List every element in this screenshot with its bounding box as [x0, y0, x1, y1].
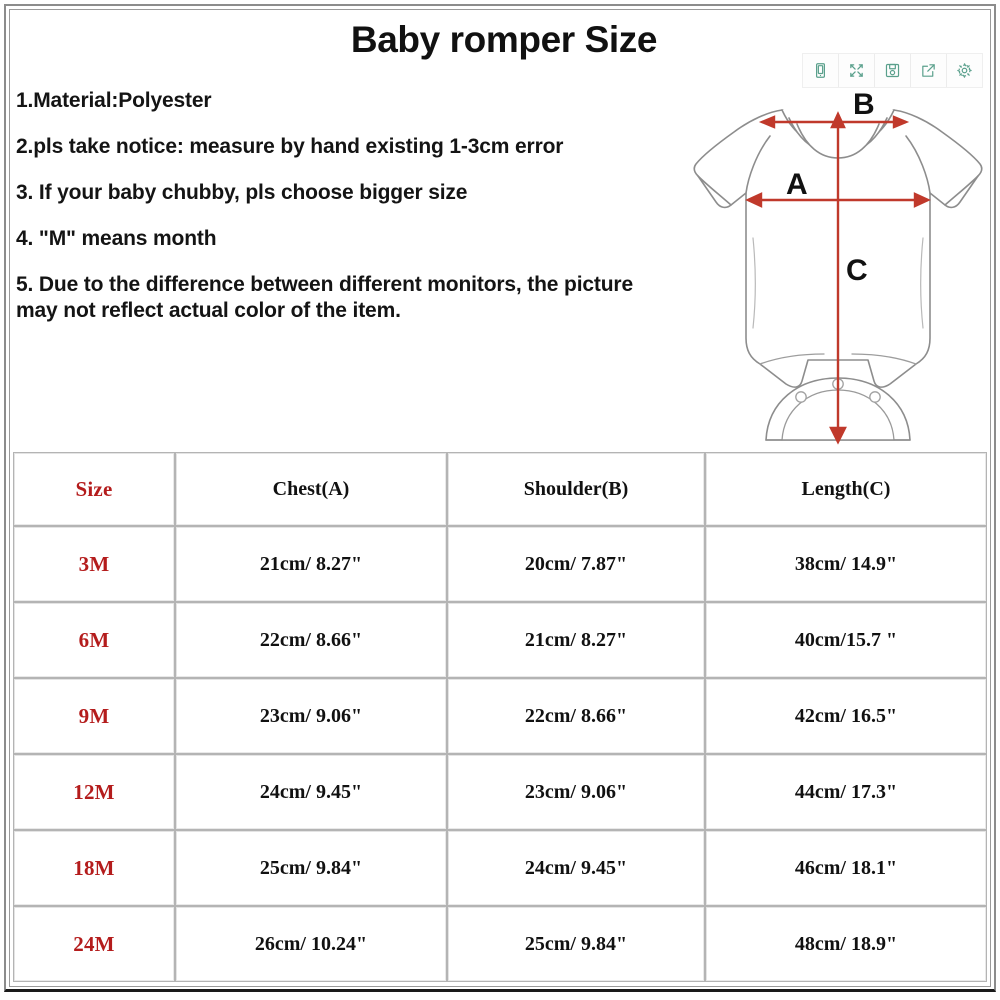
notes-list: 1.Material:Polyester 2.pls take notice: … — [16, 88, 656, 324]
header-shoulder: Shoulder(B) — [447, 452, 705, 526]
settings-button[interactable] — [947, 54, 982, 87]
cell-size: 24M — [13, 906, 175, 982]
mobile-device-icon — [812, 62, 829, 79]
cell-shoulder: 25cm/ 9.84" — [447, 906, 705, 982]
cell-shoulder: 24cm/ 9.45" — [447, 830, 705, 906]
header-length: Length(C) — [705, 452, 987, 526]
save-disk-icon — [884, 62, 901, 79]
table-row: 9M 23cm/ 9.06" 22cm/ 8.66" 42cm/ 16.5" — [13, 678, 987, 754]
table-row: 24M 26cm/ 10.24" 25cm/ 9.84" 48cm/ 18.9" — [13, 906, 987, 982]
header-chest: Chest(A) — [175, 452, 447, 526]
cell-chest: 21cm/ 8.27" — [175, 526, 447, 602]
table-header-row: Size Chest(A) Shoulder(B) Length(C) — [13, 452, 987, 526]
note-item-2: 2.pls take notice: measure by hand exist… — [16, 134, 656, 160]
share-export-button[interactable] — [911, 54, 947, 87]
cell-length: 48cm/ 18.9" — [705, 906, 987, 982]
mobile-device-button[interactable] — [803, 54, 839, 87]
cell-chest: 23cm/ 9.06" — [175, 678, 447, 754]
note-item-4: 4. "M" means month — [16, 226, 656, 252]
gear-settings-icon — [956, 62, 973, 79]
note-item-5: 5. Due to the difference between differe… — [16, 272, 656, 324]
label-shoulder-b: B — [853, 92, 875, 121]
cell-shoulder: 21cm/ 8.27" — [447, 602, 705, 678]
cell-length: 38cm/ 14.9" — [705, 526, 987, 602]
expand-fullscreen-button[interactable] — [839, 54, 875, 87]
cell-size: 18M — [13, 830, 175, 906]
save-button[interactable] — [875, 54, 911, 87]
cell-chest: 26cm/ 10.24" — [175, 906, 447, 982]
size-chart-table: Size Chest(A) Shoulder(B) Length(C) 3M 2… — [13, 452, 987, 982]
cell-size: 3M — [13, 526, 175, 602]
table-row: 3M 21cm/ 8.27" 20cm/ 7.87" 38cm/ 14.9" — [13, 526, 987, 602]
note-item-3: 3. If your baby chubby, pls choose bigge… — [16, 180, 656, 206]
note-item-1: 1.Material:Polyester — [16, 88, 656, 114]
table-row: 18M 25cm/ 9.84" 24cm/ 9.45" 46cm/ 18.1" — [13, 830, 987, 906]
cell-size: 9M — [13, 678, 175, 754]
icon-toolbar — [802, 53, 983, 88]
expand-arrows-icon — [848, 62, 865, 79]
cell-shoulder: 20cm/ 7.87" — [447, 526, 705, 602]
cell-length: 40cm/15.7 " — [705, 602, 987, 678]
cell-length: 46cm/ 18.1" — [705, 830, 987, 906]
size-chart-page: Baby romper Size 1.Material:Polyester 2.… — [0, 0, 1000, 1000]
cell-chest: 25cm/ 9.84" — [175, 830, 447, 906]
cell-chest: 24cm/ 9.45" — [175, 754, 447, 830]
header-size: Size — [13, 452, 175, 526]
label-chest-a: A — [786, 168, 808, 201]
cell-shoulder: 22cm/ 8.66" — [447, 678, 705, 754]
label-length-c: C — [846, 254, 868, 287]
cell-chest: 22cm/ 8.66" — [175, 602, 447, 678]
table-row: 12M 24cm/ 9.45" 23cm/ 9.06" 44cm/ 17.3" — [13, 754, 987, 830]
cell-size: 12M — [13, 754, 175, 830]
cell-size: 6M — [13, 602, 175, 678]
table-row: 6M 22cm/ 8.66" 21cm/ 8.27" 40cm/15.7 " — [13, 602, 987, 678]
cell-length: 42cm/ 16.5" — [705, 678, 987, 754]
romper-illustration: B A C — [690, 92, 986, 454]
cell-length: 44cm/ 17.3" — [705, 754, 987, 830]
cell-shoulder: 23cm/ 9.06" — [447, 754, 705, 830]
share-export-icon — [920, 62, 937, 79]
